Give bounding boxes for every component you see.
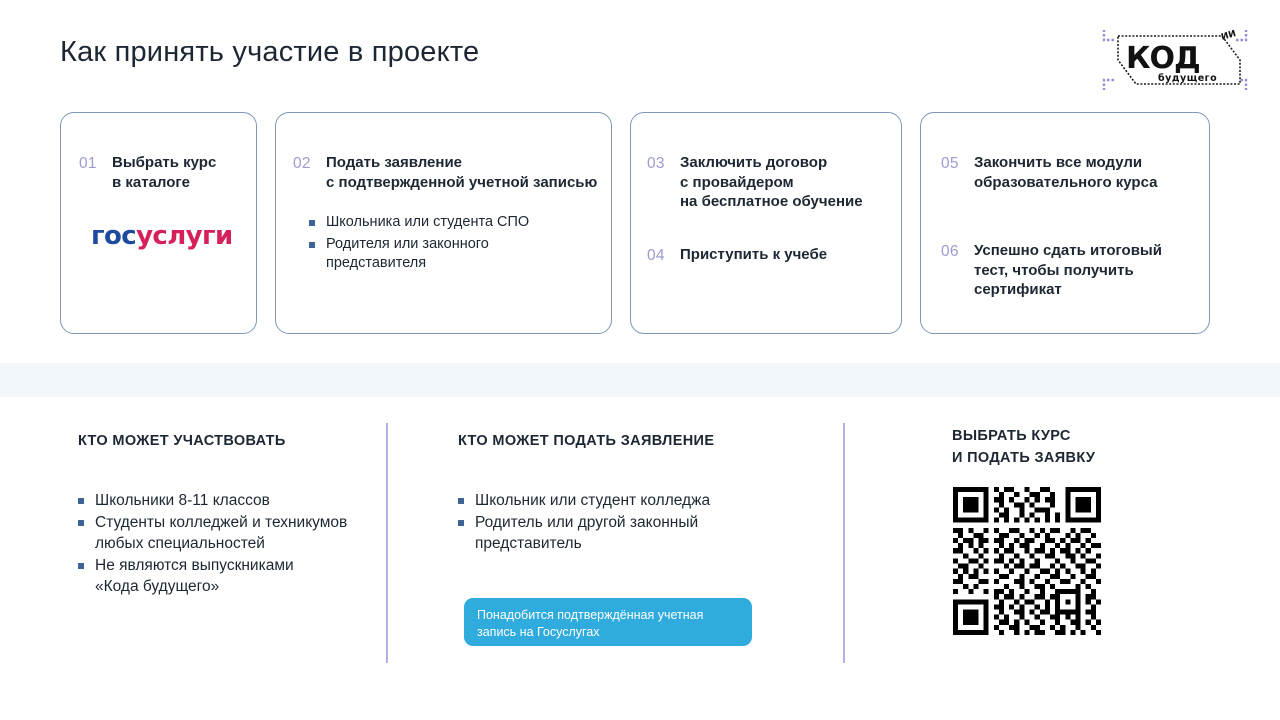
step-item-04: 04 Приступить к учебе <box>647 245 827 265</box>
list-item-label: Родителя или законного представителя <box>326 235 489 274</box>
bullet-square-icon <box>309 220 315 226</box>
step-number: 03 <box>647 153 671 173</box>
svg-text:будущего: будущего <box>1158 73 1217 84</box>
step-item-02: 02 Подать заявление с подтвержденной уче… <box>293 153 597 192</box>
step-label: Заключить договор с провайдером на беспл… <box>680 153 863 212</box>
gosuslugi-account-callout: Понадобится подтверждённая учетная запис… <box>464 598 752 646</box>
step-number: 02 <box>293 153 317 173</box>
step-card-2-bullets: Школьника или студента СПО Родителя или … <box>309 213 599 276</box>
gosuslugi-logo: госуслуги <box>91 221 233 251</box>
column-who-can-apply: КТО МОЖЕТ ПОДАТЬ ЗАЯВЛЕНИЕ Школьник или … <box>458 430 788 555</box>
list-item-label: Не являются выпускниками «Кода будущего» <box>95 555 294 597</box>
step-item-01: 01 Выбрать курс в каталоге <box>79 153 216 192</box>
list-item: Родитель или другой законный представите… <box>458 512 788 554</box>
step-number: 01 <box>79 153 103 173</box>
column-heading: КТО МОЖЕТ ПОДАТЬ ЗАЯВЛЕНИЕ <box>458 430 788 452</box>
column-heading: ВЫБРАТЬ КУРС И ПОДАТЬ ЗАЯВКУ <box>952 425 1182 469</box>
list-item-label: Родитель или другой законный представите… <box>475 512 698 554</box>
participate-list: Школьники 8-11 классов Студенты колледже… <box>78 490 378 597</box>
step-item-06: 06 Успешно сдать итоговый тест, чтобы по… <box>941 241 1162 300</box>
svg-text:КОД: КОД <box>1126 41 1200 76</box>
step-label: Выбрать курс в каталоге <box>112 153 216 192</box>
vertical-divider-right <box>843 423 845 663</box>
kod-budushchego-logo: КОД будущего ИИ <box>1100 18 1250 102</box>
vertical-divider-left <box>386 423 388 663</box>
step-card-1[interactable]: 01 Выбрать курс в каталоге госуслуги <box>60 112 257 334</box>
page-title: Как принять участие в проекте <box>60 36 479 69</box>
steps-cards-row: 01 Выбрать курс в каталоге госуслуги 02 … <box>0 112 1280 334</box>
list-item-label: Школьника или студента СПО <box>326 213 529 233</box>
step-label: Успешно сдать итоговый тест, чтобы получ… <box>974 241 1162 300</box>
bullet-square-icon <box>78 563 84 569</box>
bullet-square-icon <box>458 498 464 504</box>
column-heading: КТО МОЖЕТ УЧАСТВОВАТЬ <box>78 430 378 452</box>
step-label: Приступить к учебе <box>680 245 827 265</box>
step-card-2[interactable]: 02 Подать заявление с подтвержденной уче… <box>275 112 612 334</box>
step-number: 06 <box>941 241 965 261</box>
list-item: Школьника или студента СПО <box>309 213 599 233</box>
step-card-4[interactable]: 05 Закончить все модули образовательного… <box>920 112 1210 334</box>
list-item: Родителя или законного представителя <box>309 235 599 274</box>
step-label: Закончить все модули образовательного ку… <box>974 153 1157 192</box>
gosuslugi-logo-blue: гос <box>91 221 136 251</box>
qr-code[interactable] <box>953 487 1101 635</box>
step-item-05: 05 Закончить все модули образовательного… <box>941 153 1157 192</box>
bullet-square-icon <box>458 520 464 526</box>
column-select-course-qr: ВЫБРАТЬ КУРС И ПОДАТЬ ЗАЯВКУ <box>952 425 1182 469</box>
svg-text:ИИ: ИИ <box>1220 29 1237 43</box>
column-who-can-participate: КТО МОЖЕТ УЧАСТВОВАТЬ Школьники 8-11 кла… <box>78 430 378 598</box>
section-divider-band <box>0 363 1280 397</box>
list-item-label: Студенты колледжей и техникумов любых сп… <box>95 512 347 554</box>
list-item-label: Школьник или студент колледжа <box>475 490 710 511</box>
list-item: Школьник или студент колледжа <box>458 490 788 511</box>
list-item: Школьники 8-11 классов <box>78 490 378 511</box>
step-label: Подать заявление с подтвержденной учетно… <box>326 153 597 192</box>
bullet-square-icon <box>309 242 315 248</box>
list-item: Не являются выпускниками «Кода будущего» <box>78 555 378 597</box>
list-item: Студенты колледжей и техникумов любых сп… <box>78 512 378 554</box>
step-item-03: 03 Заключить договор с провайдером на бе… <box>647 153 863 212</box>
apply-list: Школьник или студент колледжа Родитель и… <box>458 490 788 554</box>
bullet-square-icon <box>78 498 84 504</box>
list-item-label: Школьники 8-11 классов <box>95 490 270 511</box>
bullet-square-icon <box>78 520 84 526</box>
step-number: 04 <box>647 245 671 265</box>
step-card-3[interactable]: 03 Заключить договор с провайдером на бе… <box>630 112 902 334</box>
gosuslugi-logo-red: услуги <box>136 221 233 251</box>
callout-text: Понадобится подтверждённая учетная запис… <box>477 607 739 640</box>
step-number: 05 <box>941 153 965 173</box>
